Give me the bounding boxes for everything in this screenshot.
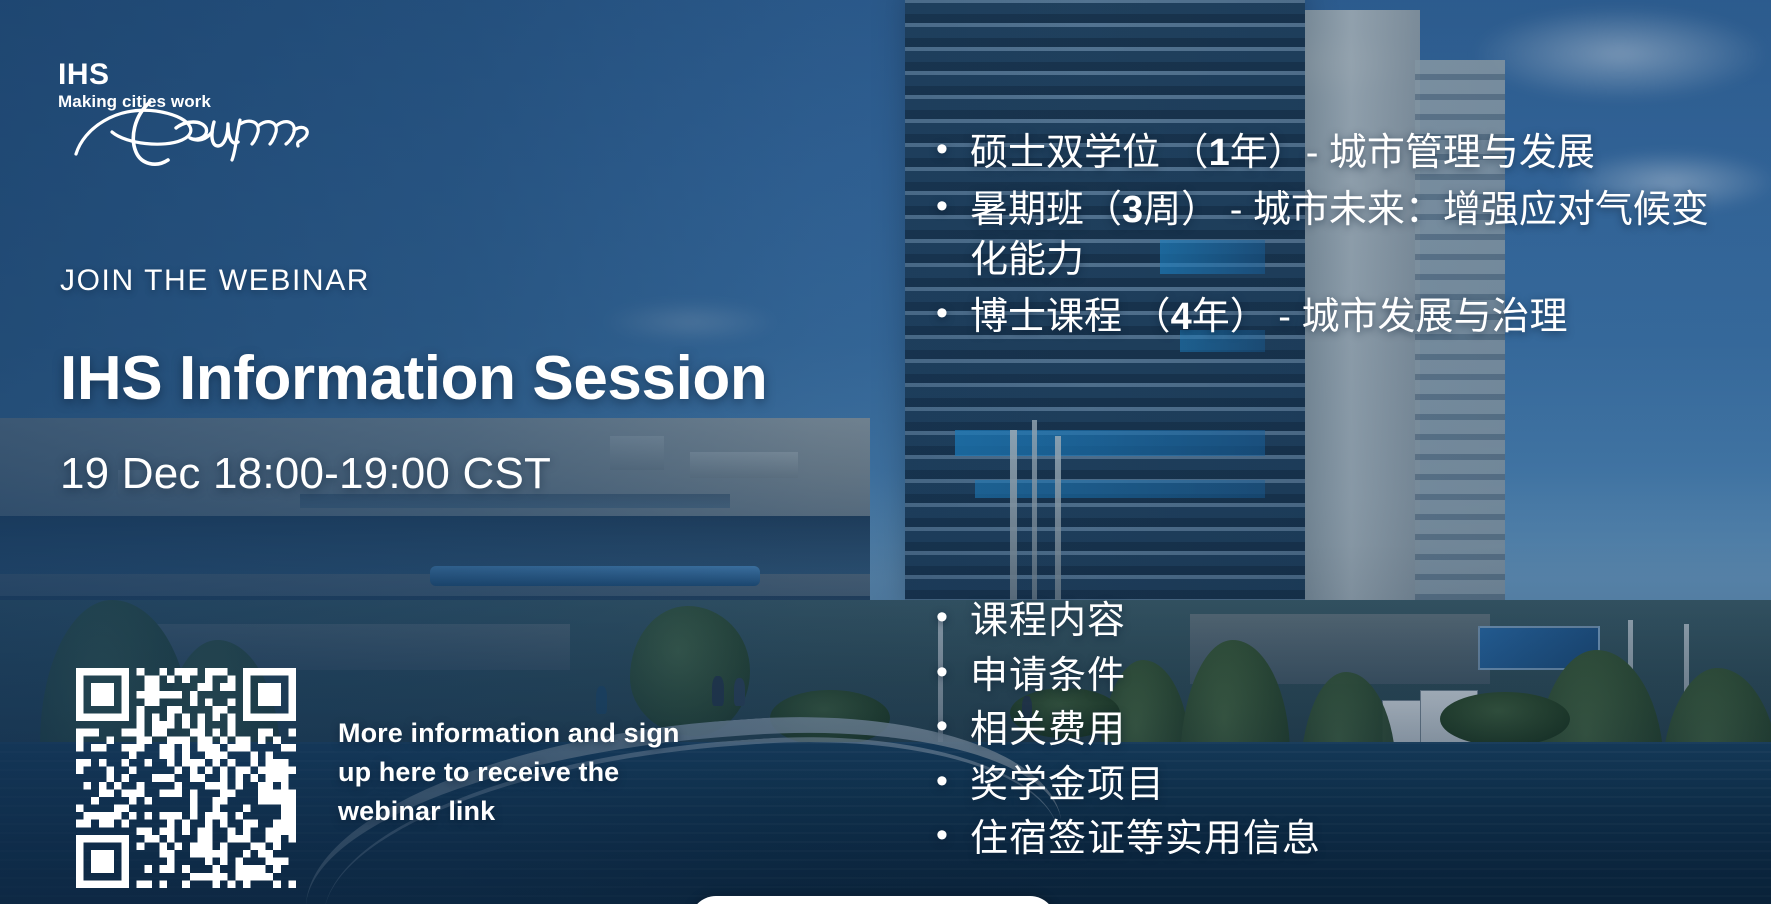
list-item: 硕士双学位 （1年）- 城市管理与发展 xyxy=(930,128,1742,179)
programme-suffix: 年）- 城市管理与发展 xyxy=(1230,132,1595,174)
event-datetime: 19 Dec 18:00-19:00 CST xyxy=(60,452,860,496)
list-item: 课程内容 xyxy=(930,600,1570,643)
ihs-logo: IHS Making cities work xyxy=(58,60,318,170)
kicker-text: JOIN THE WEBINAR xyxy=(60,266,860,296)
programme-emphasis: 4 xyxy=(1171,296,1192,338)
programme-emphasis: 1 xyxy=(1209,132,1230,174)
headline-block: JOIN THE WEBINAR IHS Information Session… xyxy=(60,266,860,496)
list-item: 博士课程 （4年） - 城市发展与治理 xyxy=(930,292,1742,343)
topic-list: 课程内容 申请条件 相关费用 奖学金项目 住宿签证等实用信息 xyxy=(930,600,1570,873)
programme-list: 硕士双学位 （1年）- 城市管理与发展 暑期班（3周） - 城市未来：增强应对气… xyxy=(930,128,1742,348)
programme-prefix: 硕士双学位 （ xyxy=(970,132,1209,174)
webinar-banner: IHS Making cities work JOIN THE WEBINAR xyxy=(0,0,1771,904)
list-item: 申请条件 xyxy=(930,655,1570,698)
programme-prefix: 暑期班（ xyxy=(970,189,1122,231)
logo-wordmark: IHS xyxy=(58,60,318,90)
list-item: 住宿签证等实用信息 xyxy=(930,818,1570,861)
list-item: 暑期班（3周） - 城市未来：增强应对气候变化能力 xyxy=(930,185,1742,286)
programme-suffix: 年） - 城市发展与治理 xyxy=(1192,296,1568,338)
cta-pill-button[interactable] xyxy=(690,896,1056,904)
qr-code-icon[interactable] xyxy=(76,668,296,888)
erasmus-signature-icon xyxy=(64,98,314,168)
programme-emphasis: 3 xyxy=(1122,189,1143,231)
list-item: 奖学金项目 xyxy=(930,764,1570,807)
qr-caption: More information and sign up here to rec… xyxy=(338,714,718,831)
programme-prefix: 博士课程 （ xyxy=(970,296,1171,338)
list-item: 相关费用 xyxy=(930,709,1570,752)
page-title: IHS Information Session xyxy=(60,348,860,410)
